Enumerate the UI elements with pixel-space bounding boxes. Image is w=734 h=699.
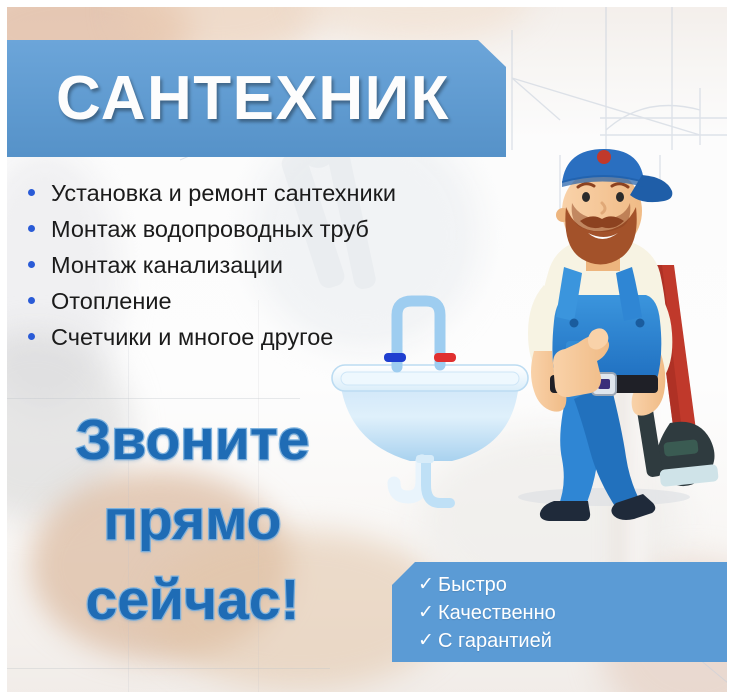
benefit-label: С гарантией [438, 628, 552, 654]
check-icon: ✓ [418, 572, 438, 598]
cta-line-2: прямо [20, 480, 365, 560]
list-item: Монтаж канализации [28, 250, 458, 280]
service-label: Отопление [51, 286, 172, 316]
list-item: ✓ С гарантией [418, 628, 734, 654]
bullet-dot-icon [28, 261, 35, 268]
bullet-dot-icon [28, 333, 35, 340]
call-to-action: Звоните прямо сейчас! [20, 400, 365, 640]
cta-line-3: сейчас! [20, 560, 365, 640]
plumber-character [492, 145, 732, 530]
character-shadow [518, 488, 690, 506]
drain-pipe [426, 461, 450, 503]
page-title: САНТЕХНИК [0, 40, 506, 157]
service-label: Установка и ремонт сантехники [51, 178, 396, 208]
benefit-label: Быстро [438, 572, 507, 598]
eye-left [582, 192, 590, 202]
service-label: Счетчики и многое другое [51, 322, 333, 352]
check-icon: ✓ [418, 600, 438, 626]
bullet-dot-icon [28, 189, 35, 196]
drain-trap [394, 461, 422, 497]
services-list: Установка и ремонт сантехники Монтаж вод… [28, 178, 458, 358]
list-item: ✓ Быстро [418, 572, 734, 598]
overalls-button [570, 319, 579, 328]
benefit-label: Качественно [438, 600, 556, 626]
list-item: Установка и ремонт сантехники [28, 178, 458, 208]
benefits-list: ✓ Быстро ✓ Качественно ✓ С гарантией [392, 562, 734, 662]
check-icon: ✓ [418, 628, 438, 654]
cta-line-1: Звоните [20, 400, 365, 480]
drain-collar [416, 455, 434, 463]
service-label: Монтаж канализации [51, 250, 283, 280]
list-item: Счетчики и многое другое [28, 322, 458, 352]
poster-canvas: САНТЕХНИК Установка и ремонт сантехники … [0, 0, 734, 699]
bullet-dot-icon [28, 225, 35, 232]
bullet-dot-icon [28, 297, 35, 304]
list-item: Монтаж водопроводных труб [28, 214, 458, 244]
service-label: Монтаж водопроводных труб [51, 214, 369, 244]
cap-button [597, 150, 611, 164]
eye-right [616, 192, 624, 202]
overalls-button [636, 319, 645, 328]
list-item: Отопление [28, 286, 458, 316]
left-shoe [540, 501, 590, 521]
list-item: ✓ Качественно [418, 600, 734, 626]
